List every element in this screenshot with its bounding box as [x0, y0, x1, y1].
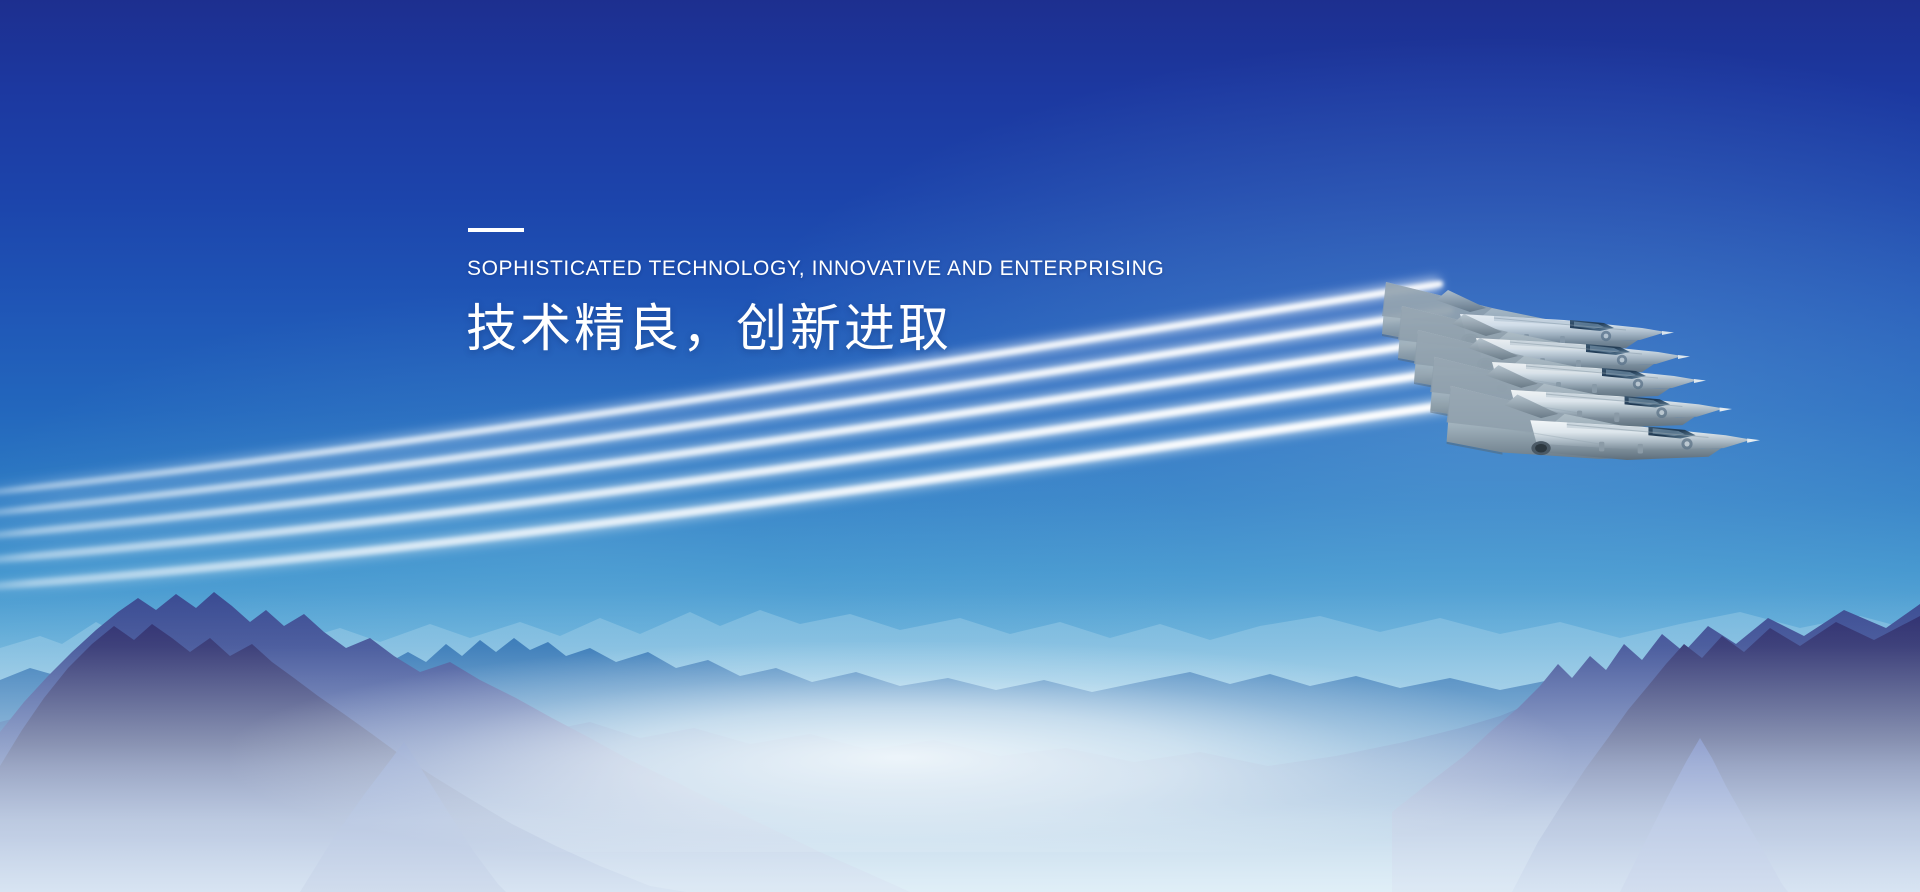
fighter-jet-formation — [1380, 290, 1900, 560]
hero-copy-block: SOPHISTICATED TECHNOLOGY, INNOVATIVE AND… — [466, 228, 1366, 356]
decorative-rule-icon — [468, 228, 524, 232]
hero-headline-text: 技术精良，创新进取 — [466, 301, 1366, 356]
mountain-range — [0, 552, 1920, 892]
hero-banner: SOPHISTICATED TECHNOLOGY, INNOVATIVE AND… — [0, 0, 1920, 892]
hero-eyebrow-text: SOPHISTICATED TECHNOLOGY, INNOVATIVE AND… — [467, 258, 1366, 279]
